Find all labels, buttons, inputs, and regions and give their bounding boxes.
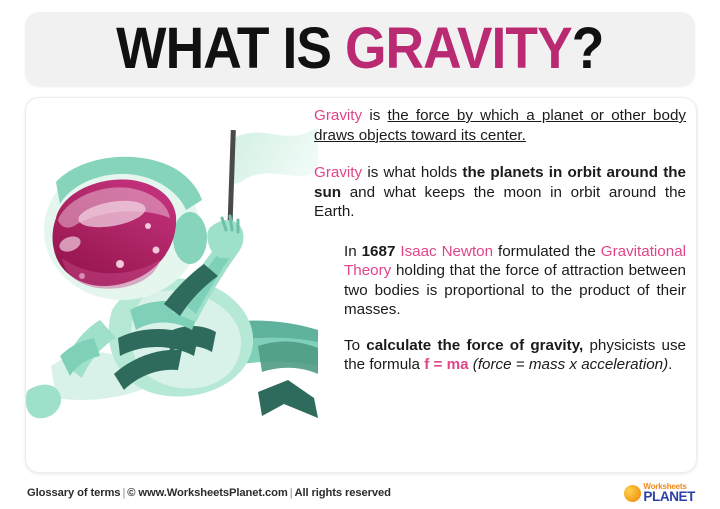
visor-sparkle-3 <box>116 260 124 268</box>
helmet-side-pod <box>173 212 207 264</box>
footer-rights: All rights reserved <box>295 487 391 499</box>
astronaut-illustration <box>26 98 318 470</box>
title-part-question-mark: ? <box>572 16 604 81</box>
keyword-gravity-2: Gravity <box>314 164 362 181</box>
footer-credits: Glossary of terms|© www.WorksheetsPlanet… <box>27 487 391 499</box>
paragraph-orbit: Gravity is what holds the planets in orb… <box>314 163 686 222</box>
paragraph-formula: To calculate the force of gravity, physi… <box>314 336 686 375</box>
logo-wordmark: Worksheets PLANET <box>643 483 695 504</box>
paragraph-definition: Gravity is the force by which a planet o… <box>314 106 686 145</box>
visor-sparkle-1 <box>145 223 151 229</box>
title-part-what-is: WHAT IS <box>116 16 345 81</box>
boot-right-dark <box>258 342 318 374</box>
title-card: WHAT IS GRAVITY? <box>25 12 695 86</box>
newton-text-b: formulated the <box>493 243 601 260</box>
title-part-gravity: GRAVITY <box>345 16 572 81</box>
keyword-gravity-1: Gravity <box>314 107 362 124</box>
paragraph-newton: In 1687 Isaac Newton formulated the Grav… <box>314 242 686 320</box>
logo-text-planet: PLANET <box>643 490 695 504</box>
newton-text-c: holding that the force of attraction bet… <box>344 262 686 318</box>
planet-ball-icon <box>623 483 643 503</box>
page-title: WHAT IS GRAVITY? <box>116 20 603 78</box>
formula-equation: f = ma <box>424 356 468 373</box>
footer: Glossary of terms|© www.WorksheetsPlanet… <box>27 482 695 504</box>
content-card: Gravity is the force by which a planet o… <box>25 97 697 473</box>
visor-sparkle-2 <box>153 247 160 254</box>
text-is: is <box>362 107 387 124</box>
boot-right-tip <box>258 380 318 418</box>
newton-year: 1687 <box>362 243 396 260</box>
definition-text-column: Gravity is the force by which a planet o… <box>314 106 686 375</box>
footer-separator-2: | <box>288 487 295 499</box>
worksheets-planet-logo: Worksheets PLANET <box>624 483 695 504</box>
flag-cloth <box>231 128 318 184</box>
footer-copyright[interactable]: © www.WorksheetsPlanet.com <box>127 487 287 499</box>
formula-bold-phrase: calculate the force of gravity, <box>366 337 583 354</box>
orbit-text-b: and what keeps the moon in orbit around … <box>314 184 686 221</box>
glove-left <box>26 385 61 419</box>
worksheet-page: WHAT IS GRAVITY? <box>0 0 720 509</box>
footer-glossary-label: Glossary of terms <box>27 487 120 499</box>
orbit-text-a: is what holds <box>362 164 462 181</box>
formula-period: . <box>668 356 672 373</box>
keyword-isaac-newton: Isaac Newton <box>400 243 493 260</box>
formula-text-a: To <box>344 337 366 354</box>
newton-text-a: In <box>344 243 362 260</box>
formula-expansion-italic: (force = mass x acceleration) <box>473 356 668 373</box>
